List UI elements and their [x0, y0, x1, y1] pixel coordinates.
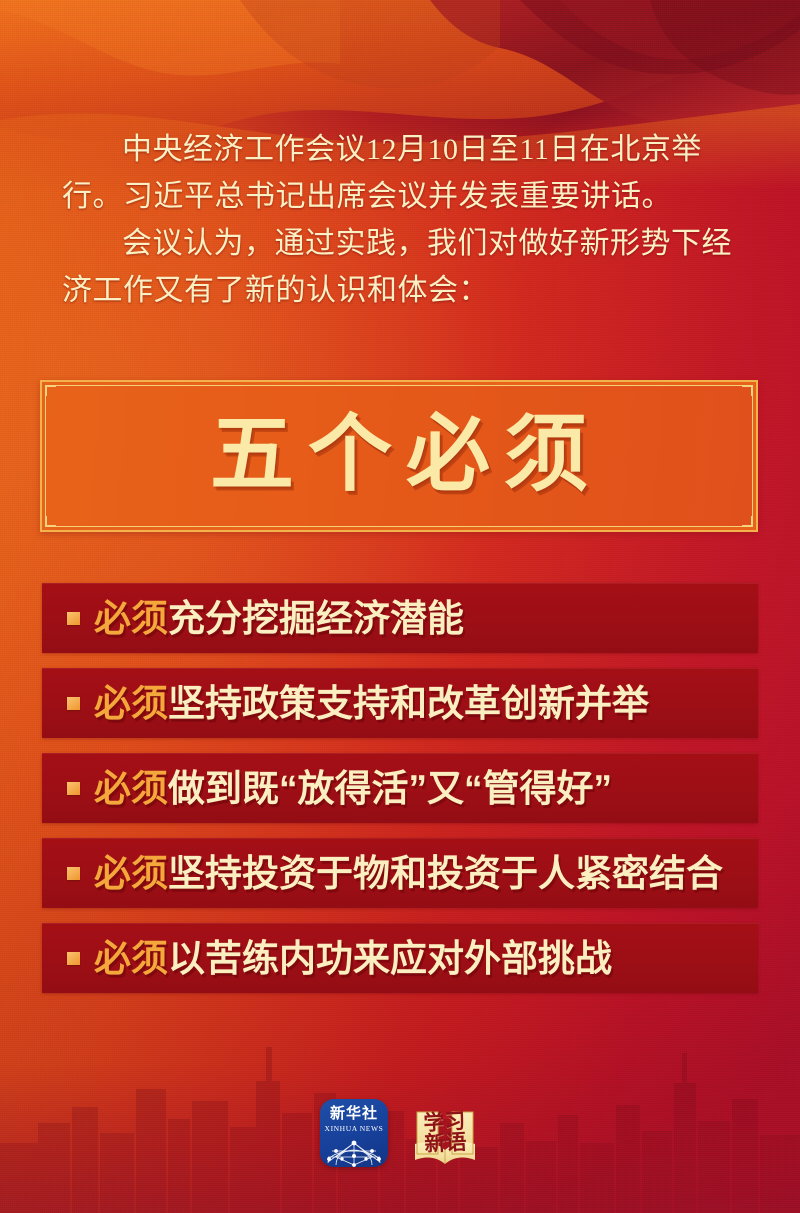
bullet-square-icon — [67, 952, 80, 965]
must-item-rest: 坚持投资于物和投资于人紧密结合 — [168, 853, 723, 894]
must-item-row: 必须坚持政策支持和改革创新并举 — [42, 668, 758, 738]
must-item-text: 必须坚持投资于物和投资于人紧密结合 — [94, 855, 723, 892]
xinhua-news-logo: 新华社 XINHUA NEWS — [320, 1099, 388, 1167]
headline-box: 五个必须 — [40, 380, 758, 532]
box-corner-bottom-left-icon — [45, 516, 56, 527]
intro-text-block: 中央经济工作会议12月10日至11日在北京举行。习近平总书记出席会议并发表重要讲… — [62, 126, 738, 314]
must-item-row: 必须做到既“放得活”又“管得好” — [42, 753, 758, 823]
box-corner-bottom-right-icon — [742, 516, 753, 527]
headline-title: 五个必须 — [196, 414, 602, 498]
must-item-text: 必须以苦练内功来应对外部挑战 — [94, 940, 612, 977]
must-item-rest: 做到既“放得活”又“管得好” — [168, 768, 612, 809]
footer-logos: 新华社 XINHUA NEWS — [0, 1098, 800, 1168]
must-item-text: 必须做到既“放得活”又“管得好” — [94, 770, 612, 807]
must-item-keyword: 必须 — [94, 683, 168, 724]
poster-canvas: 中央经济工作会议12月10日至11日在北京举行。习近平总书记出席会议并发表重要讲… — [0, 0, 800, 1213]
bullet-square-icon — [67, 867, 80, 880]
must-item-keyword: 必须 — [94, 598, 168, 639]
bullet-square-icon — [67, 782, 80, 795]
must-item-keyword: 必须 — [94, 853, 168, 894]
must-item-text: 必须坚持政策支持和改革创新并举 — [94, 685, 649, 722]
xuexi-logo-text: 学习 新语 — [423, 1111, 467, 1155]
must-item-text: 必须充分挖掘经济潜能 — [94, 600, 464, 637]
box-corner-top-right-icon — [742, 385, 753, 396]
must-item-rest: 坚持政策支持和改革创新并举 — [168, 683, 649, 724]
must-list: 必须充分挖掘经济潜能 必须坚持政策支持和改革创新并举 必须做到既“放得活”又“管… — [42, 583, 758, 1008]
must-item-keyword: 必须 — [94, 768, 168, 809]
intro-paragraph-1: 中央经济工作会议12月10日至11日在北京举行。习近平总书记出席会议并发表重要讲… — [62, 126, 738, 220]
bullet-square-icon — [67, 697, 80, 710]
bullet-square-icon — [67, 612, 80, 625]
network-globe-icon — [320, 1135, 388, 1167]
must-item-row: 必须坚持投资于物和投资于人紧密结合 — [42, 838, 758, 908]
xinhua-logo-chinese-text: 新华社 — [330, 1106, 378, 1122]
xuexi-xinyu-logo: 学习 新语 — [410, 1098, 480, 1168]
xuexi-logo-line-2: 新语 — [424, 1132, 467, 1155]
must-item-keyword: 必须 — [94, 938, 168, 979]
must-item-row: 必须以苦练内功来应对外部挑战 — [42, 923, 758, 993]
must-item-rest: 以苦练内功来应对外部挑战 — [168, 938, 612, 979]
intro-paragraph-2: 会议认为，通过实践，我们对做好新形势下经济工作又有了新的认识和体会： — [62, 220, 738, 314]
must-item-row: 必须充分挖掘经济潜能 — [42, 583, 758, 653]
box-corner-top-left-icon — [45, 385, 56, 396]
xinhua-logo-english-text: XINHUA NEWS — [325, 1124, 384, 1133]
must-item-rest: 充分挖掘经济潜能 — [168, 598, 464, 639]
